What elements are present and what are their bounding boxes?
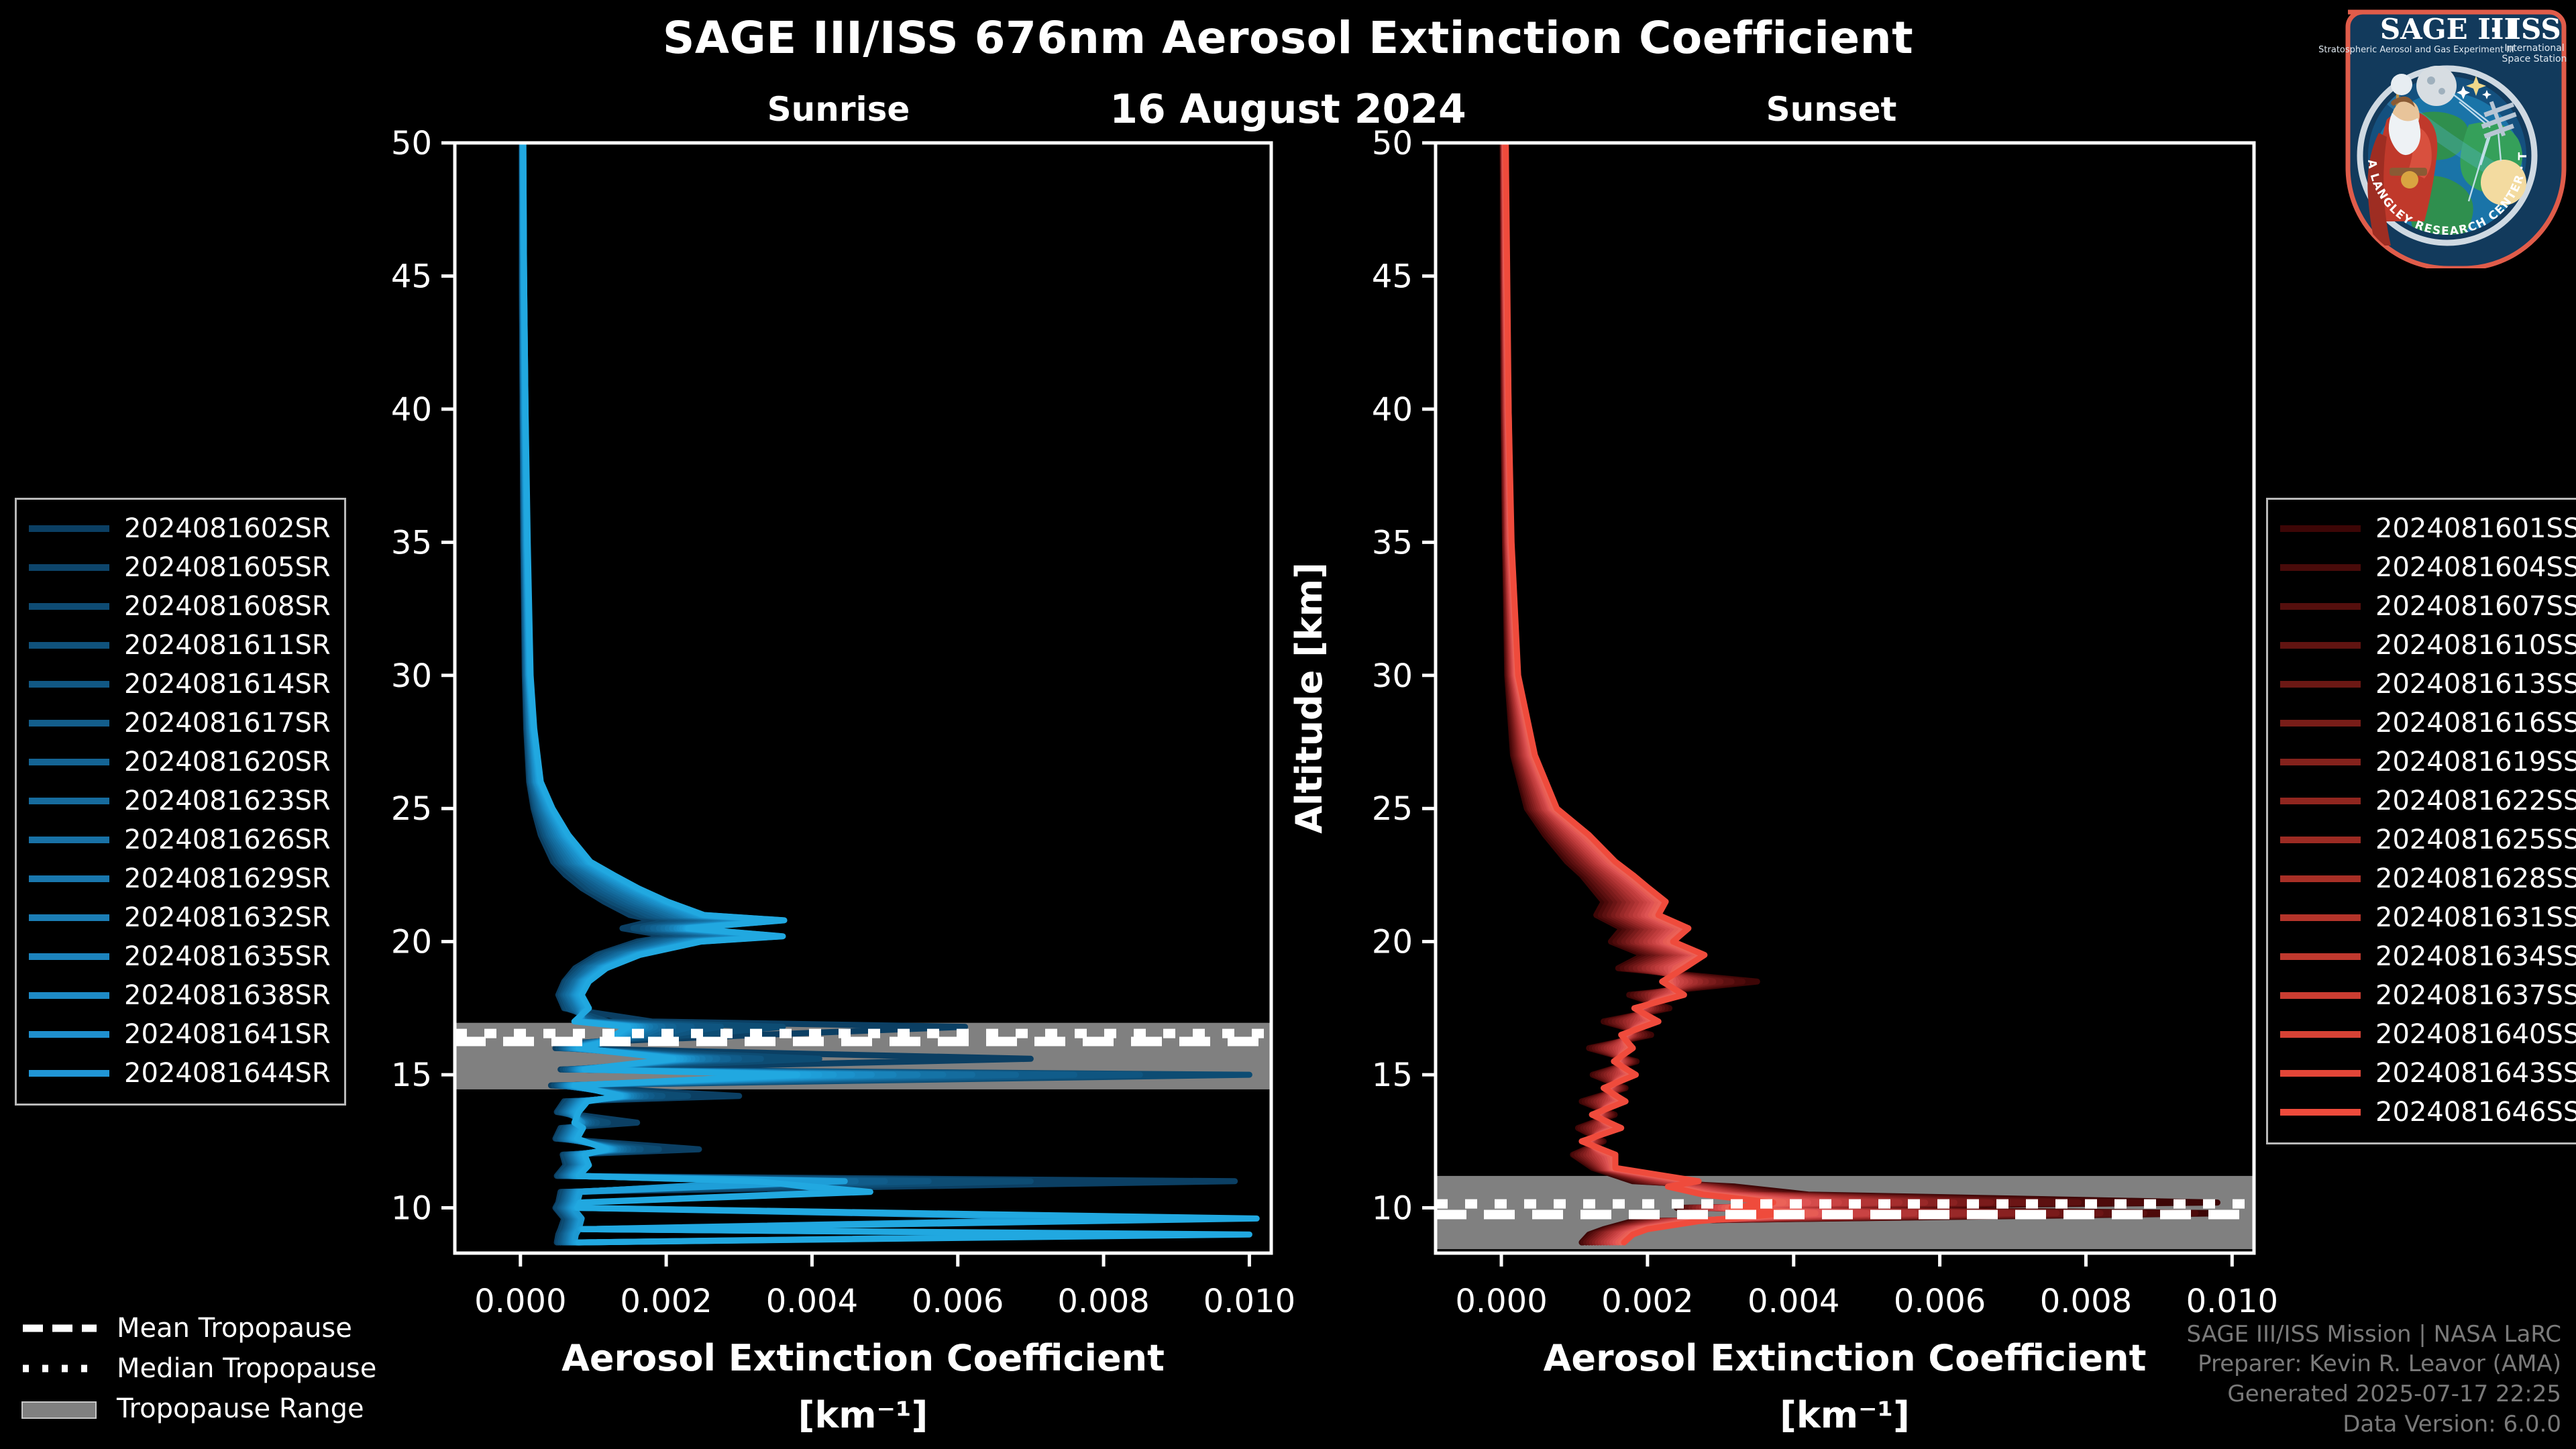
profile-line <box>1503 143 2100 1242</box>
sunrise-legend-item[interactable]: 2024081629SR <box>29 859 331 898</box>
legend-label: 2024081623SR <box>124 786 331 816</box>
legend-label: 2024081625SS <box>2375 824 2576 855</box>
y-tick-label: 20 <box>1372 924 1413 961</box>
x-tick-label: 0.010 <box>1203 1283 1295 1320</box>
profile-line <box>1504 143 1914 1242</box>
legend-label: 2024081604SS <box>2375 552 2576 583</box>
y-tick-label: 30 <box>1372 657 1413 695</box>
y-tick-label: 15 <box>391 1057 432 1094</box>
x-tick-label: 0.004 <box>1748 1283 1839 1320</box>
sunset-legend-item[interactable]: 2024081607SS <box>2280 587 2576 626</box>
sunset-legend-item[interactable]: 2024081601SS <box>2280 509 2576 548</box>
x-tick-label: 0.004 <box>766 1283 858 1320</box>
page-title: SAGE III/ISS 676nm Aerosol Extinction Co… <box>0 12 2576 64</box>
y-tick-label: 35 <box>391 524 432 561</box>
filled-band-icon <box>20 1400 99 1417</box>
plot-frame <box>455 143 1271 1253</box>
y-tick-label: 20 <box>391 924 432 961</box>
legend-color-swatch <box>29 525 109 532</box>
profile-line <box>1504 143 1866 1242</box>
legend-label: 2024081626SR <box>124 824 331 855</box>
legend-label-mean: Mean Tropopause <box>117 1313 352 1344</box>
y-tick-label: 30 <box>391 657 432 695</box>
logo-subtitle-iss-2: Space Station <box>2502 54 2567 64</box>
sunset-legend-item[interactable]: 2024081622SS <box>2280 782 2576 820</box>
legend-color-swatch <box>29 564 109 571</box>
legend-label: 2024081646SS <box>2375 1097 2576 1128</box>
plot-background <box>455 143 1271 1253</box>
x-tick-label: 0.008 <box>2040 1283 2132 1320</box>
y-tick-label: 10 <box>1372 1190 1413 1228</box>
y-tick-label: 25 <box>391 790 432 828</box>
profile-line <box>1503 143 2057 1242</box>
sunrise-legend-item[interactable]: 2024081614SR <box>29 665 331 704</box>
sunrise-panel-label: Sunrise <box>671 90 1006 129</box>
y-tick-label: 35 <box>1372 524 1413 561</box>
sunrise-legend-item[interactable]: 2024081635SR <box>29 937 331 976</box>
y-tick-label: 45 <box>391 258 432 295</box>
sunrise-legend-item[interactable]: 2024081620SR <box>29 743 331 782</box>
legend-label: 2024081608SR <box>124 591 331 622</box>
legend-label: 2024081613SS <box>2375 669 2576 700</box>
sunset-legend-item[interactable]: 2024081634SS <box>2280 937 2576 976</box>
plot-frame <box>1436 143 2254 1253</box>
legend-color-swatch <box>29 759 109 765</box>
legend-color-swatch <box>2280 1070 2361 1077</box>
legend-label: 2024081619SS <box>2375 747 2576 777</box>
sunrise-legend-item[interactable]: 2024081602SR <box>29 509 331 548</box>
credit-line-generated: Generated 2025-07-17 22:25 <box>2186 1379 2561 1409</box>
legend-label: 2024081614SR <box>124 669 331 700</box>
sunset-legend-item[interactable]: 2024081631SS <box>2280 898 2576 937</box>
legend-color-swatch <box>2280 992 2361 999</box>
legend-color-swatch <box>29 837 109 843</box>
profile-line <box>1506 143 1801 1242</box>
dashed-line-icon <box>20 1320 99 1337</box>
legend-label: 2024081605SR <box>124 552 331 583</box>
page-subtitle: 16 August 2024 <box>0 86 2576 133</box>
legend-label: 2024081643SS <box>2375 1058 2576 1089</box>
legend-color-swatch <box>2280 914 2361 921</box>
legend-color-swatch <box>2280 564 2361 571</box>
tropopause-range-band <box>1436 1176 2254 1249</box>
legend-label: 2024081622SS <box>2375 786 2576 816</box>
profile-line <box>522 143 1075 1242</box>
profile-line <box>523 143 834 1242</box>
legend-item-median-tropopause: Median Tropopause <box>20 1348 376 1389</box>
legend-color-swatch <box>2280 525 2361 532</box>
legend-item-mean-tropopause: Mean Tropopause <box>20 1308 376 1348</box>
dotted-line-icon <box>20 1360 99 1377</box>
legend-label-range: Tropopause Range <box>117 1393 364 1424</box>
profile-line <box>1506 143 1788 1242</box>
legend-color-swatch <box>29 1070 109 1077</box>
sunset-legend-item[interactable]: 2024081637SS <box>2280 976 2576 1015</box>
profile-line <box>1505 143 1849 1242</box>
sunset-legend-item[interactable]: 2024081613SS <box>2280 665 2576 704</box>
legend-color-swatch <box>29 875 109 882</box>
legend-color-swatch <box>29 798 109 804</box>
legend-label: 2024081632SR <box>124 902 331 933</box>
sunrise-legend-item[interactable]: 2024081641SR <box>29 1015 331 1054</box>
logo-title-iss: ISS <box>2508 13 2561 46</box>
legend-label: 2024081640SS <box>2375 1019 2576 1050</box>
profile-line <box>1503 143 2012 1242</box>
legend-color-swatch <box>2280 759 2361 765</box>
credit-line-version: Data Version: 6.0.0 <box>2186 1409 2561 1440</box>
legend-label: 2024081637SS <box>2375 980 2576 1011</box>
y-axis-title: Altitude [km] <box>1288 562 1330 834</box>
sunrise-legend-item[interactable]: 2024081611SR <box>29 626 331 665</box>
sunrise-legend-item[interactable]: 2024081608SR <box>29 587 331 626</box>
x-axis-unit: [km⁻¹] <box>1780 1394 1910 1436</box>
sunrise-legend-item[interactable]: 2024081623SR <box>29 782 331 820</box>
legend-label: 2024081638SR <box>124 980 331 1011</box>
sunrise-legend[interactable]: 2024081602SR2024081605SR2024081608SR2024… <box>15 498 346 1106</box>
sunset-legend-item[interactable]: 2024081643SS <box>2280 1054 2576 1093</box>
legend-label: 2024081629SR <box>124 863 331 894</box>
credit-block: SAGE III/ISS Mission | NASA LaRC Prepare… <box>2186 1320 2561 1440</box>
legend-label: 2024081620SR <box>124 747 331 777</box>
y-tick-label: 10 <box>391 1190 432 1228</box>
credit-line-preparer: Preparer: Kevin R. Leavor (AMA) <box>2186 1349 2561 1379</box>
legend-label: 2024081601SS <box>2375 513 2576 544</box>
sunset-legend-item[interactable]: 2024081628SS <box>2280 859 2576 898</box>
legend-color-swatch <box>2280 642 2361 649</box>
x-axis-unit: [km⁻¹] <box>798 1394 928 1436</box>
legend-label: 2024081602SR <box>124 513 331 544</box>
profile-line <box>522 143 1235 1242</box>
tropopause-legend: Mean Tropopause Median Tropopause Tropop… <box>20 1308 376 1429</box>
legend-label: 2024081634SS <box>2375 941 2576 972</box>
profile-line <box>1504 143 1943 1242</box>
sunset-legend-item[interactable]: 2024081619SS <box>2280 743 2576 782</box>
x-tick-label: 0.006 <box>1894 1283 1986 1320</box>
profile-line <box>523 143 871 1242</box>
x-axis-title: Aerosol Extinction Coefficient <box>561 1337 1165 1379</box>
legend-color-swatch <box>2280 1109 2361 1116</box>
legend-label: 2024081611SR <box>124 630 331 661</box>
legend-color-swatch <box>29 720 109 727</box>
x-tick-label: 0.010 <box>2186 1283 2278 1320</box>
legend-label: 2024081628SS <box>2375 863 2576 894</box>
legend-color-swatch <box>29 992 109 999</box>
logo-subtitle-sage: Stratospheric Aerosol and Gas Experiment… <box>2318 45 2514 55</box>
profile-line <box>522 143 1140 1242</box>
legend-color-swatch <box>2280 720 2361 727</box>
sunrise-legend-item[interactable]: 2024081605SR <box>29 548 331 587</box>
credit-line-mission: SAGE III/ISS Mission | NASA LaRC <box>2186 1320 2561 1350</box>
profile-line <box>523 143 1177 1242</box>
legend-label: 2024081617SR <box>124 708 331 739</box>
profile-line <box>523 143 972 1242</box>
legend-color-swatch <box>2280 953 2361 960</box>
legend-color-swatch <box>29 914 109 921</box>
sage-iii-iss-logo: SAGE III · ISS Stratospheric Aerosol and… <box>2267 0 2576 268</box>
x-tick-label: 0.002 <box>620 1283 712 1320</box>
profile-line <box>1503 143 2196 1242</box>
legend-label: 2024081616SS <box>2375 708 2576 739</box>
sunrise-legend-item[interactable]: 2024081617SR <box>29 704 331 743</box>
legend-label: 2024081607SS <box>2375 591 2576 622</box>
legend-item-tropopause-range: Tropopause Range <box>20 1389 376 1429</box>
legend-color-swatch <box>2280 1031 2361 1038</box>
profile-line <box>523 143 1235 1242</box>
sunset-legend-item[interactable]: 2024081610SS <box>2280 626 2576 665</box>
legend-label: 2024081644SR <box>124 1058 331 1089</box>
logo-subtitle-iss-1: International <box>2504 43 2564 54</box>
sunset-legend-item[interactable]: 2024081646SS <box>2280 1093 2576 1132</box>
legend-color-swatch <box>29 681 109 688</box>
legend-color-swatch <box>2280 837 2361 843</box>
x-tick-label: 0.006 <box>912 1283 1004 1320</box>
x-axis-title: Aerosol Extinction Coefficient <box>1544 1337 2147 1379</box>
legend-label: 2024081635SR <box>124 941 331 972</box>
sunset-legend-item[interactable]: 2024081616SS <box>2280 704 2576 743</box>
profile-line <box>1505 143 1832 1242</box>
x-tick-label: 0.000 <box>474 1283 566 1320</box>
profile-line <box>1505 143 1816 1242</box>
legend-label: 2024081631SS <box>2375 902 2576 933</box>
legend-color-swatch <box>2280 875 2361 882</box>
y-tick-label: 45 <box>1372 258 1413 295</box>
legend-color-swatch <box>29 642 109 649</box>
profile-line <box>1503 143 2144 1242</box>
legend-color-swatch <box>29 1031 109 1038</box>
profile-line <box>523 143 943 1242</box>
sunrise-legend-item[interactable]: 2024081638SR <box>29 976 331 1015</box>
profile-line <box>523 143 894 1242</box>
legend-color-swatch <box>29 603 109 610</box>
sunrise-legend-item[interactable]: 2024081626SR <box>29 820 331 859</box>
profile-line <box>1503 143 2232 1242</box>
profile-line <box>1504 143 1888 1242</box>
legend-label: 2024081641SR <box>124 1019 331 1050</box>
legend-color-swatch <box>2280 603 2361 610</box>
sunset-panel-label: Sunset <box>1664 90 1999 129</box>
profile-line <box>523 143 852 1242</box>
legend-label-median: Median Tropopause <box>117 1353 376 1384</box>
legend-label: 2024081610SS <box>2375 630 2576 661</box>
legend-color-swatch <box>2280 798 2361 804</box>
x-tick-label: 0.000 <box>1455 1283 1547 1320</box>
y-tick-label: 25 <box>1372 790 1413 828</box>
sunset-legend-item[interactable]: 2024081640SS <box>2280 1015 2576 1054</box>
sunset-legend-item[interactable]: 2024081625SS <box>2280 820 2576 859</box>
profile-line <box>522 143 1016 1242</box>
sunrise-legend-item[interactable]: 2024081632SR <box>29 898 331 937</box>
y-tick-label: 15 <box>1372 1057 1413 1094</box>
x-tick-label: 0.002 <box>1601 1283 1693 1320</box>
plot-background <box>1436 143 2254 1253</box>
profile-line <box>1503 143 1976 1242</box>
x-tick-label: 0.008 <box>1057 1283 1149 1320</box>
legend-color-swatch <box>2280 681 2361 688</box>
y-tick-label: 40 <box>1372 391 1413 429</box>
sunset-legend[interactable]: 2024081601SS2024081604SS2024081607SS2024… <box>2266 498 2576 1144</box>
sunrise-legend-item[interactable]: 2024081644SR <box>29 1054 331 1093</box>
sunset-legend-item[interactable]: 2024081604SS <box>2280 548 2576 587</box>
tropopause-range-band <box>455 1023 1271 1089</box>
y-tick-label: 40 <box>391 391 432 429</box>
profile-line <box>523 143 1256 1242</box>
profile-line <box>522 143 1249 1242</box>
profile-line <box>523 143 918 1242</box>
logo-dot: · <box>2490 17 2499 44</box>
legend-color-swatch <box>29 953 109 960</box>
